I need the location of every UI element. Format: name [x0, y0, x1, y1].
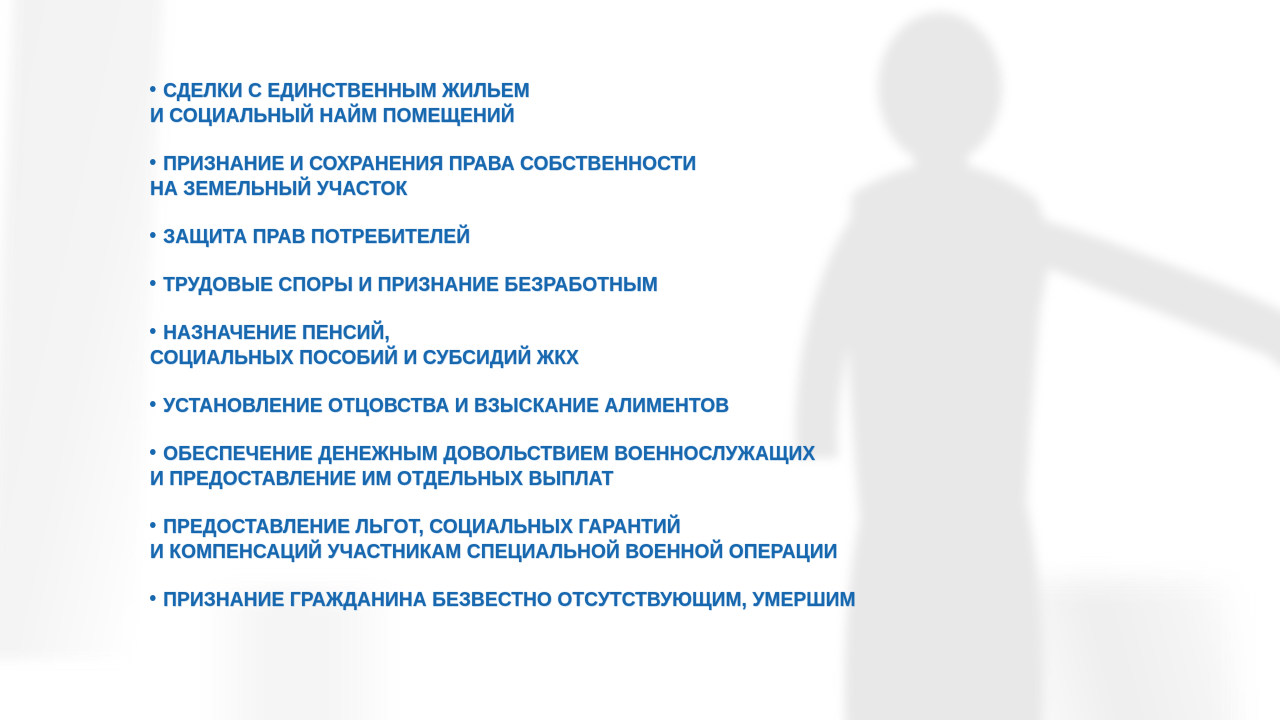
list-item: ОБЕСПЕЧЕНИЕ ДЕНЕЖНЫМ ДОВОЛЬСТВИЕМ ВОЕННО…	[150, 441, 1210, 491]
bullet-text: ТРУДОВЫЕ СПОРЫ И ПРИЗНАНИЕ БЕЗРАБОТНЫМ	[163, 272, 658, 297]
bullet-dot-icon	[150, 328, 156, 334]
bullet-line: ТРУДОВЫЕ СПОРЫ И ПРИЗНАНИЕ БЕЗРАБОТНЫМ	[150, 272, 1141, 297]
list-item: ПРИЗНАНИЕ ГРАЖДАНИНА БЕЗВЕСТНО ОТСУТСТВУ…	[150, 587, 1210, 612]
list-item: ТРУДОВЫЕ СПОРЫ И ПРИЗНАНИЕ БЕЗРАБОТНЫМ	[150, 272, 1210, 297]
bullet-text: ОБЕСПЕЧЕНИЕ ДЕНЕЖНЫМ ДОВОЛЬСТВИЕМ ВОЕННО…	[163, 441, 815, 466]
bullet-text: СДЕЛКИ С ЕДИНСТВЕННЫМ ЖИЛЬЕМ	[163, 78, 530, 103]
bullet-dot-icon	[150, 401, 156, 407]
bullet-text: НАЗНАЧЕНИЕ ПЕНСИЙ,	[163, 320, 390, 345]
bullet-dot-icon	[150, 595, 156, 601]
bullet-line: ПРИЗНАНИЕ ГРАЖДАНИНА БЕЗВЕСТНО ОТСУТСТВУ…	[150, 587, 1141, 612]
bullet-dot-icon	[150, 86, 156, 92]
bullet-dot-icon	[150, 280, 156, 286]
bullet-line: НА ЗЕМЕЛЬНЫЙ УЧАСТОК	[150, 176, 1141, 201]
bullet-dot-icon	[150, 232, 156, 238]
bullet-line: И КОМПЕНСАЦИЙ УЧАСТНИКАМ СПЕЦИАЛЬНОЙ ВОЕ…	[150, 539, 1141, 564]
background-band-left	[0, 0, 165, 660]
bullet-line: ПРИЗНАНИЕ И СОХРАНЕНИЯ ПРАВА СОБСТВЕННОС…	[150, 151, 1141, 176]
bullet-line: СОЦИАЛЬНЫХ ПОСОБИЙ И СУБСИДИЙ ЖКХ	[150, 345, 1141, 370]
list-item: УСТАНОВЛЕНИЕ ОТЦОВСТВА И ВЗЫСКАНИЕ АЛИМЕ…	[150, 393, 1210, 418]
bullet-text: ЗАЩИТА ПРАВ ПОТРЕБИТЕЛЕЙ	[163, 224, 470, 249]
bullet-dot-icon	[150, 159, 156, 165]
bullet-text: УСТАНОВЛЕНИЕ ОТЦОВСТВА И ВЗЫСКАНИЕ АЛИМЕ…	[163, 393, 729, 418]
list-item: НАЗНАЧЕНИЕ ПЕНСИЙ, СОЦИАЛЬНЫХ ПОСОБИЙ И …	[150, 320, 1210, 370]
list-item: СДЕЛКИ С ЕДИНСТВЕННЫМ ЖИЛЬЕМ И СОЦИАЛЬНЫ…	[150, 78, 1210, 128]
bullet-dot-icon	[150, 522, 156, 528]
bullet-line: ЗАЩИТА ПРАВ ПОТРЕБИТЕЛЕЙ	[150, 224, 1141, 249]
bullet-line: СДЕЛКИ С ЕДИНСТВЕННЫМ ЖИЛЬЕМ	[150, 78, 1141, 103]
bullet-line: НАЗНАЧЕНИЕ ПЕНСИЙ,	[150, 320, 1141, 345]
slide-root: СДЕЛКИ С ЕДИНСТВЕННЫМ ЖИЛЬЕМ И СОЦИАЛЬНЫ…	[0, 0, 1280, 720]
bullet-text: ПРИЗНАНИЕ ГРАЖДАНИНА БЕЗВЕСТНО ОТСУТСТВУ…	[163, 587, 855, 612]
bullet-line: УСТАНОВЛЕНИЕ ОТЦОВСТВА И ВЗЫСКАНИЕ АЛИМЕ…	[150, 393, 1141, 418]
bullet-list: СДЕЛКИ С ЕДИНСТВЕННЫМ ЖИЛЬЕМ И СОЦИАЛЬНЫ…	[150, 78, 1210, 612]
list-item: ПРЕДОСТАВЛЕНИЕ ЛЬГОТ, СОЦИАЛЬНЫХ ГАРАНТИ…	[150, 514, 1210, 564]
bullet-line: И СОЦИАЛЬНЫЙ НАЙМ ПОМЕЩЕНИЙ	[150, 103, 1141, 128]
bullet-line: ПРЕДОСТАВЛЕНИЕ ЛЬГОТ, СОЦИАЛЬНЫХ ГАРАНТИ…	[150, 514, 1141, 539]
list-item: ЗАЩИТА ПРАВ ПОТРЕБИТЕЛЕЙ	[150, 224, 1210, 249]
bullet-text: ПРЕДОСТАВЛЕНИЕ ЛЬГОТ, СОЦИАЛЬНЫХ ГАРАНТИ…	[163, 514, 681, 539]
bullet-line: ОБЕСПЕЧЕНИЕ ДЕНЕЖНЫМ ДОВОЛЬСТВИЕМ ВОЕННО…	[150, 441, 1141, 466]
bullet-dot-icon	[150, 449, 156, 455]
bullet-line: И ПРЕДОСТАВЛЕНИЕ ИМ ОТДЕЛЬНЫХ ВЫПЛАТ	[150, 466, 1141, 491]
list-item: ПРИЗНАНИЕ И СОХРАНЕНИЯ ПРАВА СОБСТВЕННОС…	[150, 151, 1210, 201]
bullet-text: ПРИЗНАНИЕ И СОХРАНЕНИЯ ПРАВА СОБСТВЕННОС…	[163, 151, 696, 176]
